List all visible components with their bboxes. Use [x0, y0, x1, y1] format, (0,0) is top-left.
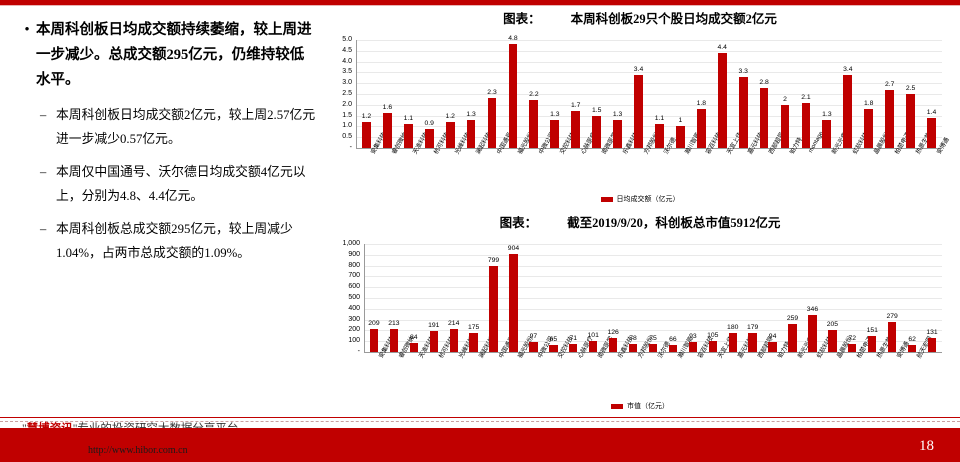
bar-value-label: 1.4	[919, 109, 945, 116]
bar-value-label: 2.5	[898, 85, 924, 92]
bar	[928, 338, 936, 352]
y-axis-tick-label: -	[330, 348, 360, 355]
y-axis-tick-label: 700	[330, 272, 360, 279]
bar	[410, 343, 418, 352]
bar	[843, 75, 852, 148]
gridline	[364, 298, 942, 299]
list-item: – 本周仅中国通号、沃尔德日均成交额4亿元以上，分别为4.8、4.4亿元。	[40, 160, 318, 208]
y-axis-tick-label: 800	[330, 262, 360, 269]
bar-value-label: 904	[500, 245, 526, 252]
y-axis-tick-label: 100	[330, 337, 360, 344]
x-axis-category-label: 安博通	[934, 135, 951, 155]
legend-swatch	[611, 404, 623, 409]
bar	[748, 333, 756, 352]
bar	[718, 53, 727, 148]
gridline	[364, 244, 942, 245]
y-axis-tick-label: 2.0	[330, 101, 352, 108]
bar	[906, 94, 915, 148]
bar-value-label: 3.3	[730, 68, 756, 75]
bar-value-label: 2.2	[521, 91, 547, 98]
y-axis-tick-label: 300	[330, 316, 360, 323]
sub-bullet-text: 本周科创板总成交额295亿元，较上周减少1.04%，占两市总成交额的1.09%。	[56, 217, 318, 265]
y-axis-tick-label: 3.5	[330, 68, 352, 75]
bar	[404, 124, 413, 148]
gridline	[364, 276, 942, 277]
bar-value-label: 213	[381, 320, 407, 327]
bar	[888, 322, 896, 352]
bar	[676, 126, 685, 148]
y-axis-tick-label: 400	[330, 305, 360, 312]
gridline	[356, 83, 942, 84]
bar	[709, 341, 717, 352]
bar	[634, 75, 643, 148]
bar	[788, 324, 796, 352]
bar-value-label: 1.3	[605, 111, 631, 118]
bar-value-label: 1.3	[814, 111, 840, 118]
dash-icon: –	[40, 160, 56, 184]
y-axis-tick-label: 4.0	[330, 58, 352, 65]
list-item: – 本周科创板日均成交额2亿元，较上周2.57亿元进一步减少0.57亿元。	[40, 103, 318, 151]
sub-bullet-list: – 本周科创板日均成交额2亿元，较上周2.57亿元进一步减少0.57亿元。 – …	[18, 103, 318, 265]
y-axis-tick-label: 600	[330, 283, 360, 290]
bar	[592, 116, 601, 148]
y-axis-tick-label: 500	[330, 294, 360, 301]
chart-title-2: 图表：截至2019/9/20，科创板总市值5912亿元	[330, 212, 950, 231]
bullet-dot-icon: •	[18, 18, 36, 40]
chart-panel-daily-turnover: 图表：本周科创板29只个股日均成交额2亿元 5.04.54.03.53.02.5…	[330, 8, 950, 208]
y-axis	[364, 244, 365, 352]
chart-title-text-2: 截至2019/9/20，科创板总市值5912亿元	[567, 216, 780, 230]
bar-value-label: 175	[461, 324, 487, 331]
chart-label-prefix-2: 图表：	[500, 216, 538, 230]
plot-area-1: 5.04.54.03.53.02.52.01.51.00.5-1.2安集科技1.…	[330, 28, 950, 203]
gridline	[356, 62, 942, 63]
y-axis-tick-label: 3.0	[330, 79, 352, 86]
chart-legend: 日均成交额（亿元）	[330, 194, 950, 204]
y-axis-tick-label: 200	[330, 326, 360, 333]
bar-value-label: 2.8	[751, 79, 777, 86]
page-number: 18	[919, 438, 934, 455]
bar-value-label: 179	[740, 324, 766, 331]
dash-icon: –	[40, 103, 56, 127]
bar	[467, 120, 476, 148]
bar	[529, 100, 538, 148]
bar	[370, 329, 378, 352]
bar	[362, 122, 371, 148]
left-text-column: • 本周科创板日均成交额持续萎缩，较上周进一步减少。总成交额295亿元，仍维持较…	[18, 18, 318, 274]
bar-value-label: 4.4	[709, 44, 735, 51]
chart-label-prefix-1: 图表：	[503, 12, 541, 26]
bar	[655, 124, 664, 148]
bar	[589, 341, 597, 352]
bar-value-label: 84	[401, 334, 427, 341]
bar-value-label: 259	[780, 315, 806, 322]
bar	[729, 333, 737, 352]
bar	[739, 77, 748, 148]
y-axis-tick-label: 4.5	[330, 47, 352, 54]
gridline	[364, 309, 942, 310]
chart-legend: 市值（亿元）	[330, 401, 950, 411]
bar	[446, 122, 455, 148]
bar	[489, 266, 497, 352]
chart-panel-market-cap: 图表：截至2019/9/20，科创板总市值5912亿元 1,0009008007…	[330, 212, 950, 412]
click-enter-label[interactable]: 点击进入	[18, 440, 62, 456]
top-thin-rule	[0, 5, 960, 6]
bar	[768, 342, 776, 352]
bar-value-label: 2.1	[793, 94, 819, 101]
chart-title-1: 图表：本周科创板29只个股日均成交额2亿元	[330, 8, 950, 27]
gridline	[364, 255, 942, 256]
legend-label: 市值（亿元）	[627, 401, 669, 411]
bar	[697, 109, 706, 148]
gridline	[356, 40, 942, 41]
bar-value-label: 205	[819, 321, 845, 328]
y-axis-tick-label: 1.0	[330, 122, 352, 129]
bar	[488, 98, 497, 148]
bar-value-label: 105	[700, 332, 726, 339]
y-axis-tick-label: 1,000	[330, 240, 360, 247]
bar	[609, 338, 617, 352]
y-axis-tick-label: 0.5	[330, 133, 352, 140]
bottom-red-rule	[0, 417, 960, 418]
bar-value-label: 151	[859, 327, 885, 334]
bar-value-label: 346	[799, 306, 825, 313]
bar-value-label: 3.4	[626, 66, 652, 73]
bar	[864, 109, 873, 148]
bar-value-label: 799	[481, 257, 507, 264]
dash-icon: –	[40, 217, 56, 241]
bar-value-label: 1.6	[374, 104, 400, 111]
sub-bullet-text: 本周仅中国通号、沃尔德日均成交额4亿元以上，分别为4.8、4.4亿元。	[56, 160, 318, 208]
bar	[927, 118, 936, 148]
y-axis-tick-label: 5.0	[330, 36, 352, 43]
bar	[822, 120, 831, 148]
gridline	[364, 266, 942, 267]
y-axis-tick-label: 2.5	[330, 90, 352, 97]
bar	[802, 103, 811, 148]
bar-value-label: 2.3	[479, 89, 505, 96]
main-bullet: • 本周科创板日均成交额持续萎缩，较上周进一步减少。总成交额295亿元，仍维持较…	[18, 18, 318, 93]
gridline	[364, 287, 942, 288]
sub-bullet-text: 本周科创板日均成交额2亿元，较上周2.57亿元进一步减少0.57亿元。	[56, 103, 318, 151]
bar-value-label: 3.4	[835, 66, 861, 73]
bar	[808, 315, 816, 352]
bar	[469, 333, 477, 352]
gridline	[356, 94, 942, 95]
bar	[509, 254, 517, 352]
bar	[450, 329, 458, 352]
bar-value-label: 1.8	[688, 100, 714, 107]
bar	[689, 342, 697, 352]
gridline	[356, 51, 942, 52]
legend-label: 日均成交额（亿元）	[617, 194, 680, 204]
bar	[781, 105, 790, 148]
bar	[760, 88, 769, 148]
y-axis-tick-label: 1.5	[330, 112, 352, 119]
bar-value-label: 131	[919, 329, 945, 336]
bar-value-label: 1.2	[353, 113, 379, 120]
bar	[425, 129, 434, 148]
bar	[828, 330, 836, 352]
bar	[550, 120, 559, 148]
main-bullet-text: 本周科创板日均成交额持续萎缩，较上周进一步减少。总成交额295亿元，仍维持较低水…	[36, 18, 318, 93]
bar-value-label: 1	[667, 117, 693, 124]
y-axis-tick-label: 900	[330, 251, 360, 258]
bar-value-label: 279	[879, 313, 905, 320]
bar-value-label: 1.3	[458, 111, 484, 118]
bar	[613, 120, 622, 148]
bar	[390, 329, 398, 352]
bar	[430, 331, 438, 352]
bar	[571, 111, 580, 148]
bar-value-label: 4.8	[500, 35, 526, 42]
list-item: – 本周科创板总成交额295亿元，较上周减少1.04%，占两市总成交额的1.09…	[40, 217, 318, 265]
bar-value-label: 94	[760, 333, 786, 340]
gridline	[356, 126, 942, 127]
gridline	[356, 105, 942, 106]
bar	[868, 336, 876, 352]
site-url[interactable]: http://www.hibor.com.cn	[88, 445, 188, 456]
bar	[885, 90, 894, 148]
bar	[509, 44, 518, 148]
bar	[383, 113, 392, 148]
y-axis-tick-label: -	[330, 144, 352, 151]
bar-value-label: 1.8	[856, 100, 882, 107]
y-axis	[356, 40, 357, 148]
bar-value-label: 0.9	[416, 120, 442, 127]
legend-swatch	[601, 197, 613, 202]
bar-value-label: 1.3	[542, 111, 568, 118]
plot-area-2: 1,000900800700600500400300200100-209安集科技…	[330, 232, 950, 410]
chart-title-text-1: 本周科创板29只个股日均成交额2亿元	[571, 12, 777, 26]
